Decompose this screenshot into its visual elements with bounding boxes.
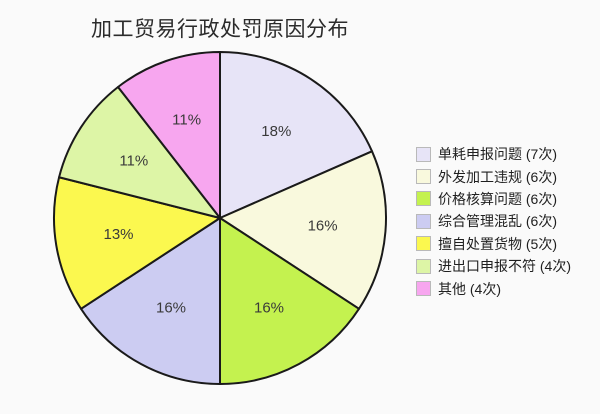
- legend-item[interactable]: 进出口申报不符 (4次): [416, 255, 600, 277]
- legend-item[interactable]: 外发加工违规 (6次): [416, 165, 600, 187]
- legend-item[interactable]: 单耗申报问题 (7次): [416, 143, 600, 165]
- pie-svg: 18%16%16%16%13%11%11%: [52, 50, 388, 386]
- legend-item-label: 其他 (4次): [438, 281, 501, 297]
- legend-item-label: 外发加工违规 (6次): [438, 169, 557, 185]
- legend-item-label: 综合管理混乱 (6次): [438, 213, 557, 229]
- legend-color-swatch: [416, 147, 431, 162]
- pie-slice-percent-label: 16%: [156, 299, 186, 316]
- legend-item-label: 单耗申报问题 (7次): [438, 146, 557, 162]
- pie-plot-area: 18%16%16%16%13%11%11%: [52, 50, 388, 386]
- legend-color-swatch: [416, 191, 431, 206]
- legend-item[interactable]: 其他 (4次): [416, 277, 600, 299]
- legend-color-swatch: [416, 236, 431, 251]
- chart-title: 加工贸易行政处罚原因分布: [0, 16, 440, 44]
- legend-color-swatch: [416, 281, 431, 296]
- legend-item[interactable]: 价格核算问题 (6次): [416, 188, 600, 210]
- pie-slice-percent-label: 11%: [119, 153, 148, 170]
- pie-slice-percent-label: 18%: [261, 123, 291, 140]
- legend-item-label: 进出口申报不符 (4次): [438, 258, 571, 274]
- legend-item-label: 价格核算问题 (6次): [438, 191, 557, 207]
- legend-item-label: 擅自处置货物 (5次): [438, 236, 557, 252]
- pie-chart-figure: 加工贸易行政处罚原因分布 18%16%16%16%13%11%11% 单耗申报问…: [0, 0, 600, 414]
- pie-slice-percent-label: 13%: [103, 226, 133, 243]
- pie-slice-percent-label: 16%: [308, 217, 338, 234]
- pie-slice-percent-label: 16%: [254, 299, 284, 316]
- legend: 单耗申报问题 (7次)外发加工违规 (6次)价格核算问题 (6次)综合管理混乱 …: [416, 143, 600, 300]
- pie-slice-percent-label: 11%: [172, 112, 201, 129]
- legend-color-swatch: [416, 259, 431, 274]
- legend-color-swatch: [416, 169, 431, 184]
- legend-item[interactable]: 综合管理混乱 (6次): [416, 210, 600, 232]
- legend-color-swatch: [416, 214, 431, 229]
- legend-item[interactable]: 擅自处置货物 (5次): [416, 233, 600, 255]
